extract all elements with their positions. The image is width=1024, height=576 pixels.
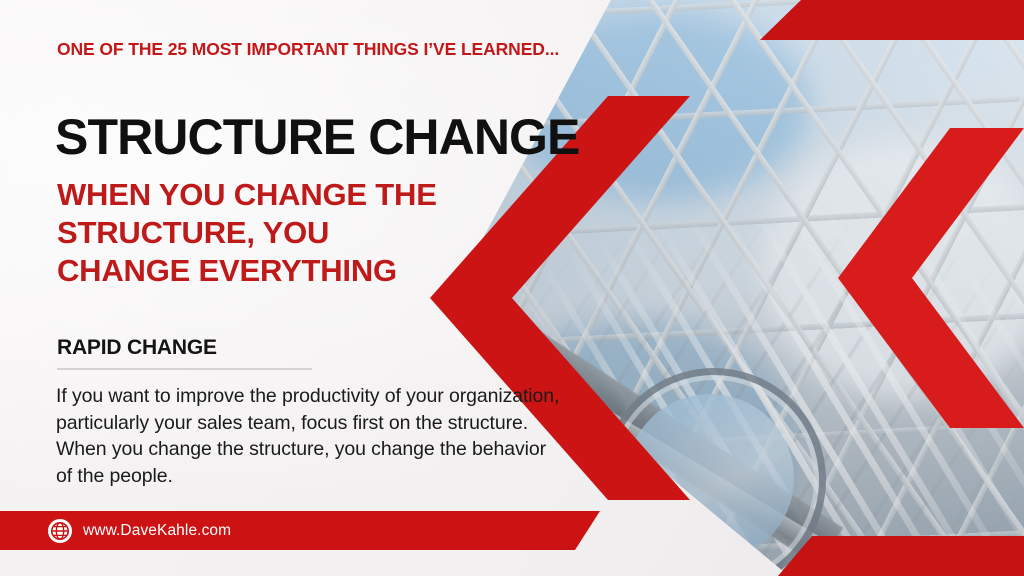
subtitle-line-2: STRUCTURE, YOU xyxy=(57,214,527,252)
globe-icon xyxy=(48,519,72,543)
red-band-bottom-right xyxy=(778,536,1024,576)
section-heading: RAPID CHANGE xyxy=(57,336,217,360)
subtitle-line-1: WHEN YOU CHANGE THE xyxy=(57,176,527,214)
subtitle-block: WHEN YOU CHANGE THE STRUCTURE, YOU CHANG… xyxy=(57,176,527,289)
eyebrow-text: ONE OF THE 25 MOST IMPORTANT THINGS I’VE… xyxy=(57,39,559,60)
footer-bar: www.DaveKahle.com xyxy=(0,511,600,550)
subtitle-line-3: CHANGE EVERYTHING xyxy=(57,252,527,290)
section-divider xyxy=(57,368,312,370)
red-band-top-right xyxy=(760,0,1024,40)
footer-url-text[interactable]: www.DaveKahle.com xyxy=(83,522,231,540)
slide-canvas: ONE OF THE 25 MOST IMPORTANT THINGS I’VE… xyxy=(0,0,1024,576)
page-title: STRUCTURE CHANGE xyxy=(55,112,580,162)
body-paragraph: If you want to improve the productivity … xyxy=(56,383,566,490)
